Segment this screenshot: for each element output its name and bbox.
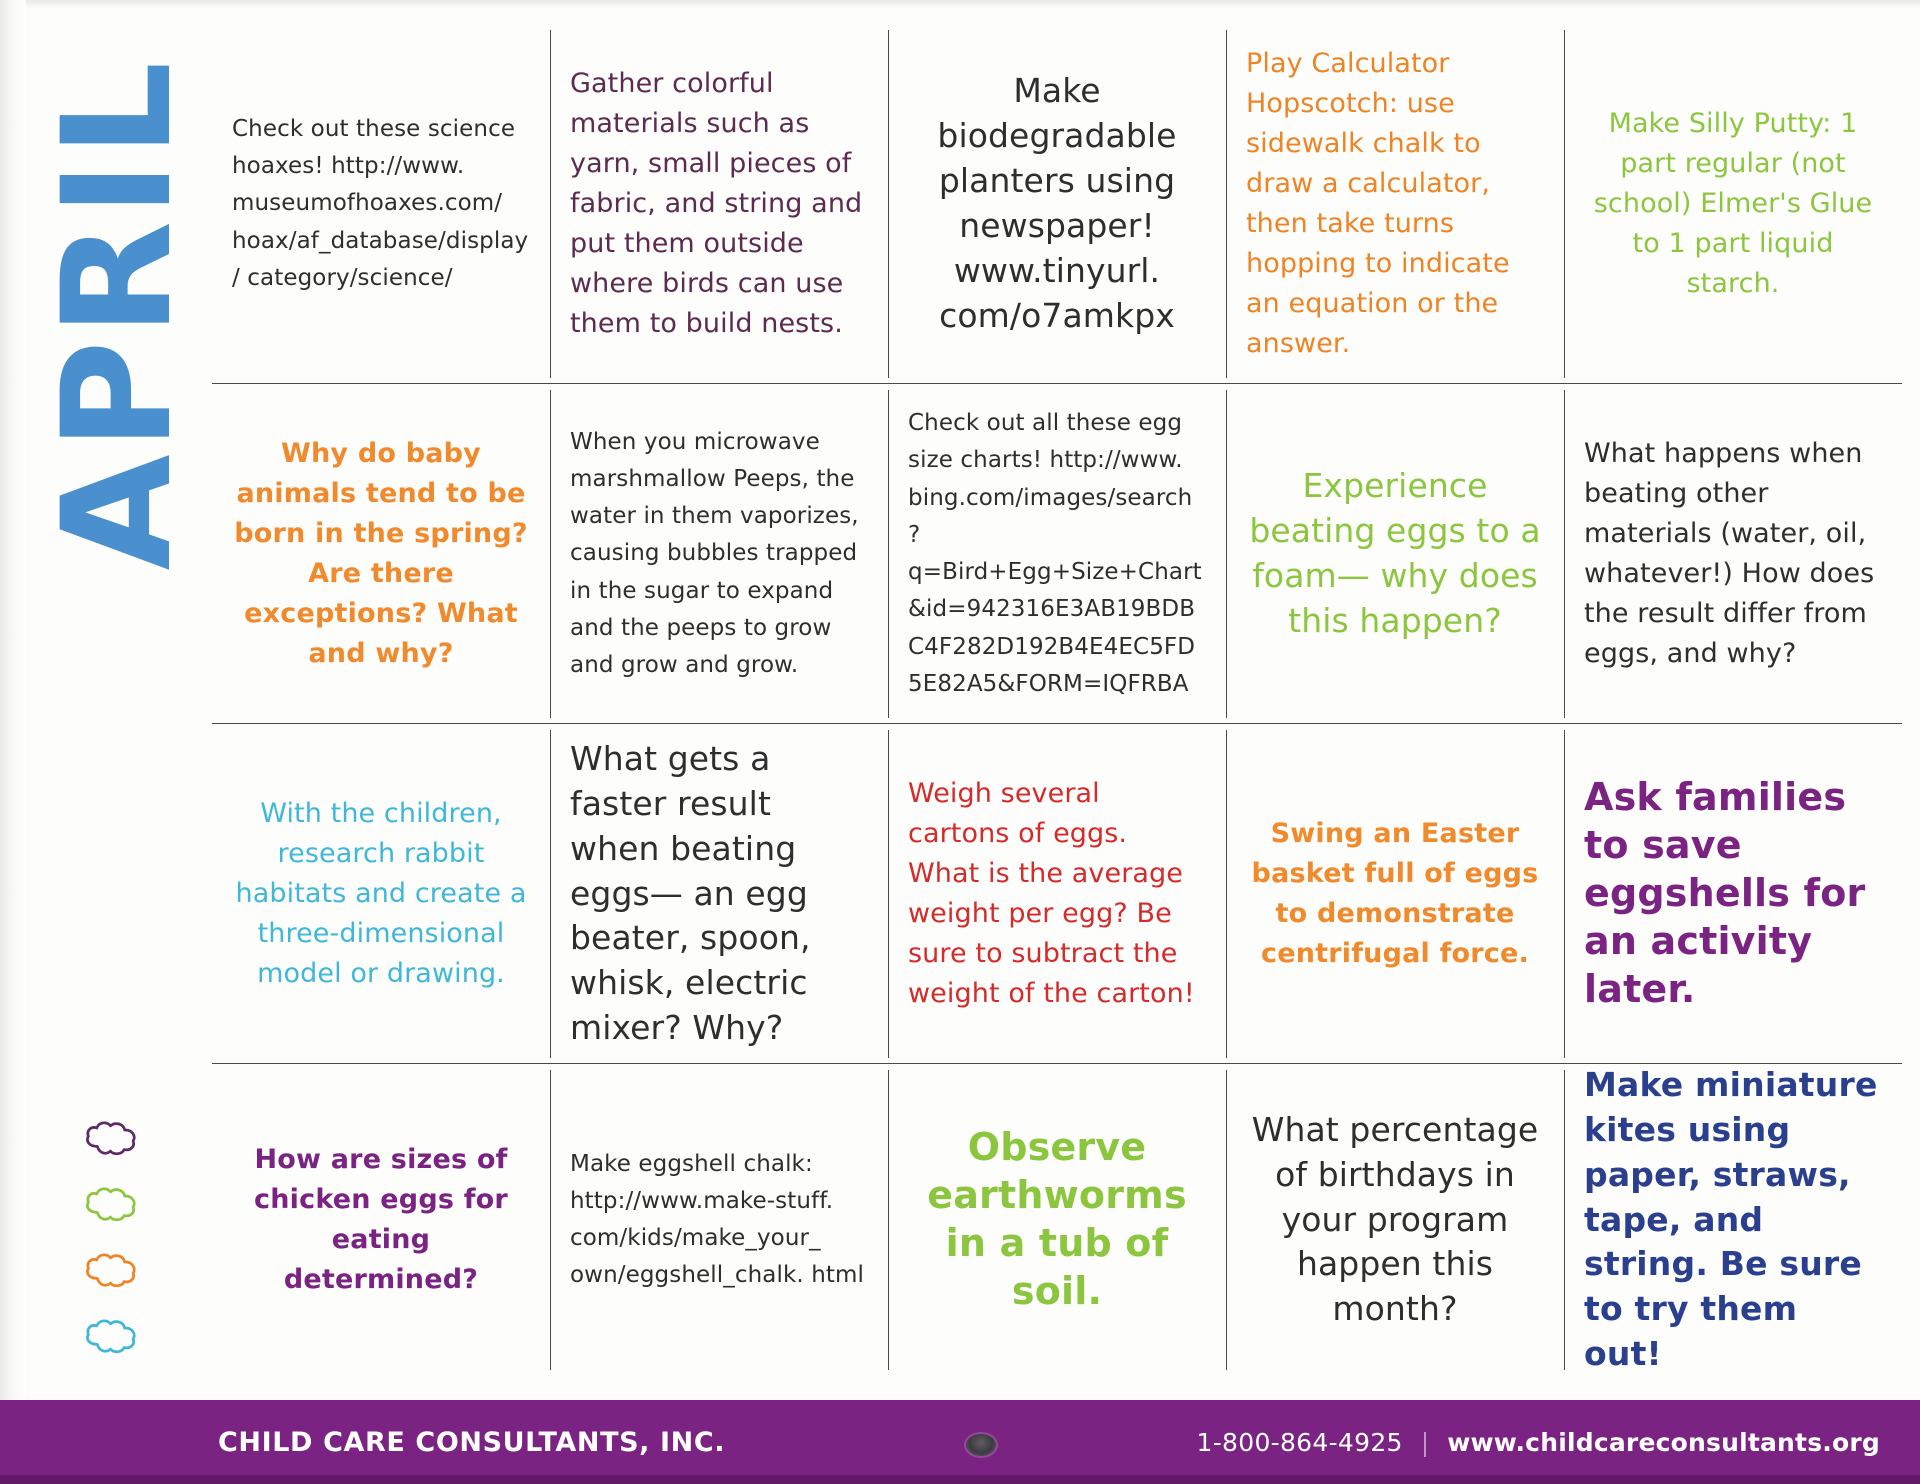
activity-cell-r2c4[interactable]: Experience beating eggs to a foam— why d… <box>1226 384 1564 724</box>
activity-text: Make eggshell chalk: http://www.make-stu… <box>570 1146 868 1295</box>
footer-website[interactable]: www.childcareconsultants.org <box>1447 1428 1880 1457</box>
activity-cell-r3c2[interactable]: What gets a faster result when beating e… <box>550 724 888 1064</box>
activity-cell-r4c3[interactable]: Observe earthworms in a tub of soil. <box>888 1064 1226 1376</box>
cloud-icon-purple <box>82 1119 140 1164</box>
activity-cell-r2c3[interactable]: Check out all these egg size charts! htt… <box>888 384 1226 724</box>
activity-text: Make miniature kites using paper, straws… <box>1584 1064 1882 1376</box>
footer-contact: 1-800-864-4925 | www.childcareconsultant… <box>1197 1428 1880 1457</box>
activity-cell-r1c2[interactable]: Gather colorful materials such as yarn, … <box>550 24 888 384</box>
activity-cell-r2c1[interactable]: Why do baby animals tend to be born in t… <box>212 384 550 724</box>
activity-text: Swing an Easter basket full of eggs to d… <box>1246 814 1544 974</box>
activity-cell-r3c4[interactable]: Swing an Easter basket full of eggs to d… <box>1226 724 1564 1064</box>
activity-text: Weigh several cartons of eggs. What is t… <box>908 774 1206 1014</box>
cloud-icon-row <box>82 1306 152 1372</box>
activity-text: How are sizes of chicken eggs for eating… <box>232 1140 530 1300</box>
activity-text: Make biodegradable planters using newspa… <box>908 69 1206 338</box>
activity-text: Ask families to save eggshells for an ac… <box>1584 774 1882 1013</box>
activity-cell-r1c5[interactable]: Make Silly Putty: 1 part regular (not sc… <box>1564 24 1902 384</box>
activity-text: What happens when beating other material… <box>1584 434 1882 674</box>
activity-cell-r3c5[interactable]: Ask families to save eggshells for an ac… <box>1564 724 1902 1064</box>
activity-cell-r1c4[interactable]: Play Calculator Hopscotch: use sidewalk … <box>1226 24 1564 384</box>
activity-text: Check out all these egg size charts! htt… <box>908 405 1206 703</box>
activity-text: Experience beating eggs to a foam— why d… <box>1246 464 1544 644</box>
activity-text: Check out these science hoaxes! http://w… <box>232 111 530 297</box>
scan-edge-top <box>0 0 1920 10</box>
footer-bar: CHILD CARE CONSULTANTS, INC. 1-800-864-4… <box>0 1400 1920 1484</box>
activity-cell-r2c5[interactable]: What happens when beating other material… <box>1564 384 1902 724</box>
activity-cell-r4c4[interactable]: What percentage of birthdays in your pro… <box>1226 1064 1564 1376</box>
binder-grommet-icon <box>966 1434 996 1456</box>
cloud-icon-row <box>82 1174 152 1240</box>
activity-cell-r4c5[interactable]: Make miniature kites using paper, straws… <box>1564 1064 1902 1376</box>
scan-edge-left <box>0 0 26 1484</box>
cloud-icon-row <box>82 1240 152 1306</box>
cloud-icon-cyan <box>82 1317 140 1362</box>
activity-cell-r4c2[interactable]: Make eggshell chalk: http://www.make-stu… <box>550 1064 888 1376</box>
activity-text: What percentage of birthdays in your pro… <box>1246 1108 1544 1332</box>
cloud-icon-orange <box>82 1251 140 1296</box>
month-spine: APRIL <box>30 14 205 614</box>
footer-organization-name: CHILD CARE CONSULTANTS, INC. <box>218 1427 725 1458</box>
activity-cell-r1c1[interactable]: Check out these science hoaxes! http://w… <box>212 24 550 384</box>
activity-cell-r1c3[interactable]: Make biodegradable planters using newspa… <box>888 24 1226 384</box>
activity-cell-r4c1[interactable]: How are sizes of chicken eggs for eating… <box>212 1064 550 1376</box>
activity-cell-r3c1[interactable]: With the children, research rabbit habit… <box>212 724 550 1064</box>
footer-phone[interactable]: 1-800-864-4925 <box>1197 1428 1403 1457</box>
cloud-icon-green <box>82 1185 140 1230</box>
activity-text: Why do baby animals tend to be born in t… <box>232 434 530 674</box>
activity-text: Gather colorful materials such as yarn, … <box>570 64 868 344</box>
cloud-icon-stack <box>82 1108 152 1372</box>
activity-grid: Check out these science hoaxes! http://w… <box>212 24 1902 1376</box>
month-label: APRIL <box>43 58 193 571</box>
footer-separator: | <box>1421 1428 1429 1457</box>
activity-text: What gets a faster result when beating e… <box>570 737 868 1051</box>
cloud-icon-row <box>82 1108 152 1174</box>
activity-text: Observe earthworms in a tub of soil. <box>908 1124 1206 1316</box>
activity-cell-r3c3[interactable]: Weigh several cartons of eggs. What is t… <box>888 724 1226 1064</box>
activity-text: Make Silly Putty: 1 part regular (not sc… <box>1584 104 1882 304</box>
activity-text: With the children, research rabbit habit… <box>232 794 530 994</box>
activity-text: Play Calculator Hopscotch: use sidewalk … <box>1246 44 1544 364</box>
calendar-page: APRIL Check out these science hoaxes! ht… <box>0 0 1920 1484</box>
activity-text: When you microwave marshmallow Peeps, th… <box>570 424 868 685</box>
activity-cell-r2c2[interactable]: When you microwave marshmallow Peeps, th… <box>550 384 888 724</box>
